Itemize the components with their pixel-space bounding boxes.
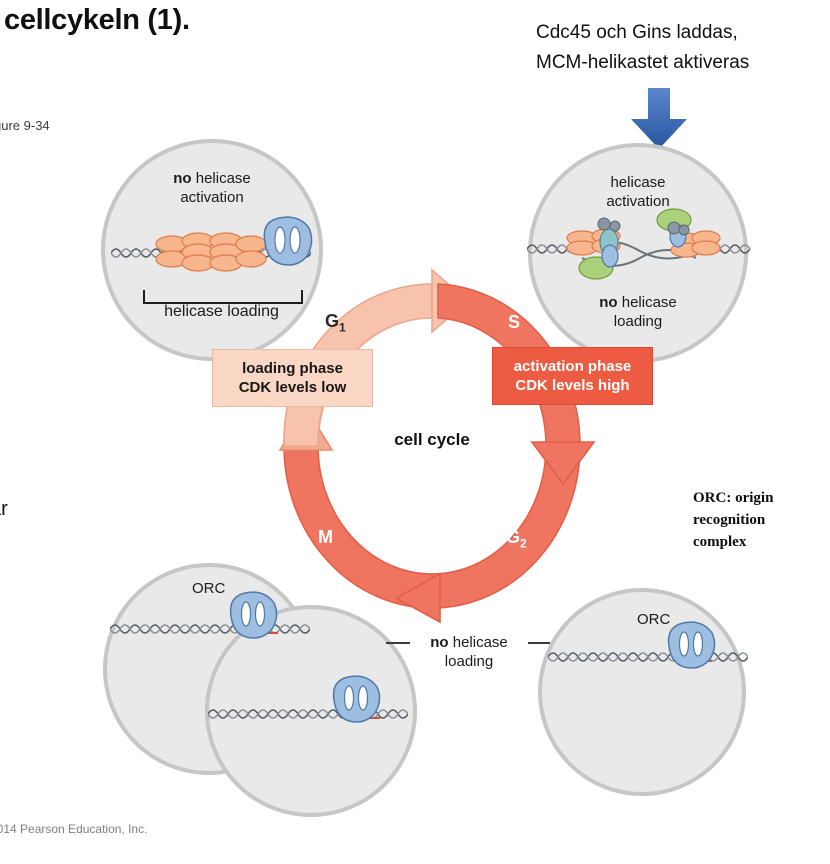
phase-label-g2: G2 bbox=[506, 527, 527, 551]
page-title: cellcykeln (1). bbox=[4, 4, 190, 37]
phase-g2-letter: G bbox=[506, 527, 520, 547]
s-bottom-rest: helicase bbox=[618, 294, 677, 311]
phase-g2-sub: 2 bbox=[520, 537, 527, 551]
s-top-line1: helicase bbox=[610, 174, 665, 191]
leader-line-left bbox=[386, 642, 410, 644]
phase-label-m: M bbox=[318, 527, 333, 548]
activation-phase-line-2: CDK levels high bbox=[503, 376, 642, 395]
orc-tag-m: ORC bbox=[192, 580, 225, 597]
bottom-note-bold: no bbox=[430, 634, 448, 651]
left-note-line-2: . bbox=[0, 524, 8, 554]
left-note-line-1: ar bbox=[0, 494, 8, 524]
loading-phase-line-1: loading phase bbox=[223, 359, 362, 378]
bottom-note-line2: loading bbox=[445, 653, 493, 670]
orc-legend-line-2: recognition bbox=[693, 509, 773, 531]
orc-complex-g2 bbox=[660, 618, 720, 674]
bottom-note-rest: helicase bbox=[449, 634, 508, 651]
phase-g1-sub: 1 bbox=[339, 321, 346, 335]
leader-line-right bbox=[528, 642, 550, 644]
g1-label-bold: no bbox=[173, 170, 191, 187]
callout-line-1: Cdc45 och Gins laddas, bbox=[536, 18, 749, 48]
activation-phase-box: activation phase CDK levels high bbox=[492, 347, 653, 405]
orc-legend-line-1: ORC: origin bbox=[693, 487, 773, 509]
cycle-center-label: cell cycle bbox=[262, 430, 602, 450]
g1-label-line2: activation bbox=[180, 189, 243, 206]
phase-s-letter: S bbox=[508, 312, 520, 332]
g1-label-rest: helicase bbox=[192, 170, 251, 187]
g1-cell-label: no helicase activation bbox=[105, 169, 319, 207]
callout-note: Cdc45 och Gins laddas, MCM-helikastet ak… bbox=[536, 18, 749, 78]
loading-phase-line-2: CDK levels low bbox=[223, 378, 362, 397]
figure-reference: gure 9-34 bbox=[0, 118, 50, 133]
orc-legend: ORC: origin recognition complex bbox=[693, 487, 773, 553]
no-helicase-loading-note: no helicase loading bbox=[409, 633, 529, 671]
phase-g1-letter: G bbox=[325, 311, 339, 331]
callout-line-2: MCM-helikastet aktiveras bbox=[536, 48, 749, 78]
orc-complex-m-lower bbox=[325, 672, 385, 728]
orc-legend-line-3: complex bbox=[693, 531, 773, 553]
active-helicase-right-s bbox=[648, 206, 726, 276]
phase-label-s: S bbox=[508, 312, 520, 333]
activation-phase-line-1: activation phase bbox=[503, 357, 642, 376]
down-arrow-icon bbox=[624, 88, 694, 150]
phase-m-letter: M bbox=[318, 527, 333, 547]
s-bottom-line2: loading bbox=[614, 313, 662, 330]
loading-phase-box: loading phase CDK levels low bbox=[212, 349, 373, 407]
copyright-notice: 2014 Pearson Education, Inc. bbox=[0, 822, 147, 836]
left-margin-note: ar . bbox=[0, 494, 8, 554]
phase-label-g1: G1 bbox=[325, 311, 346, 335]
